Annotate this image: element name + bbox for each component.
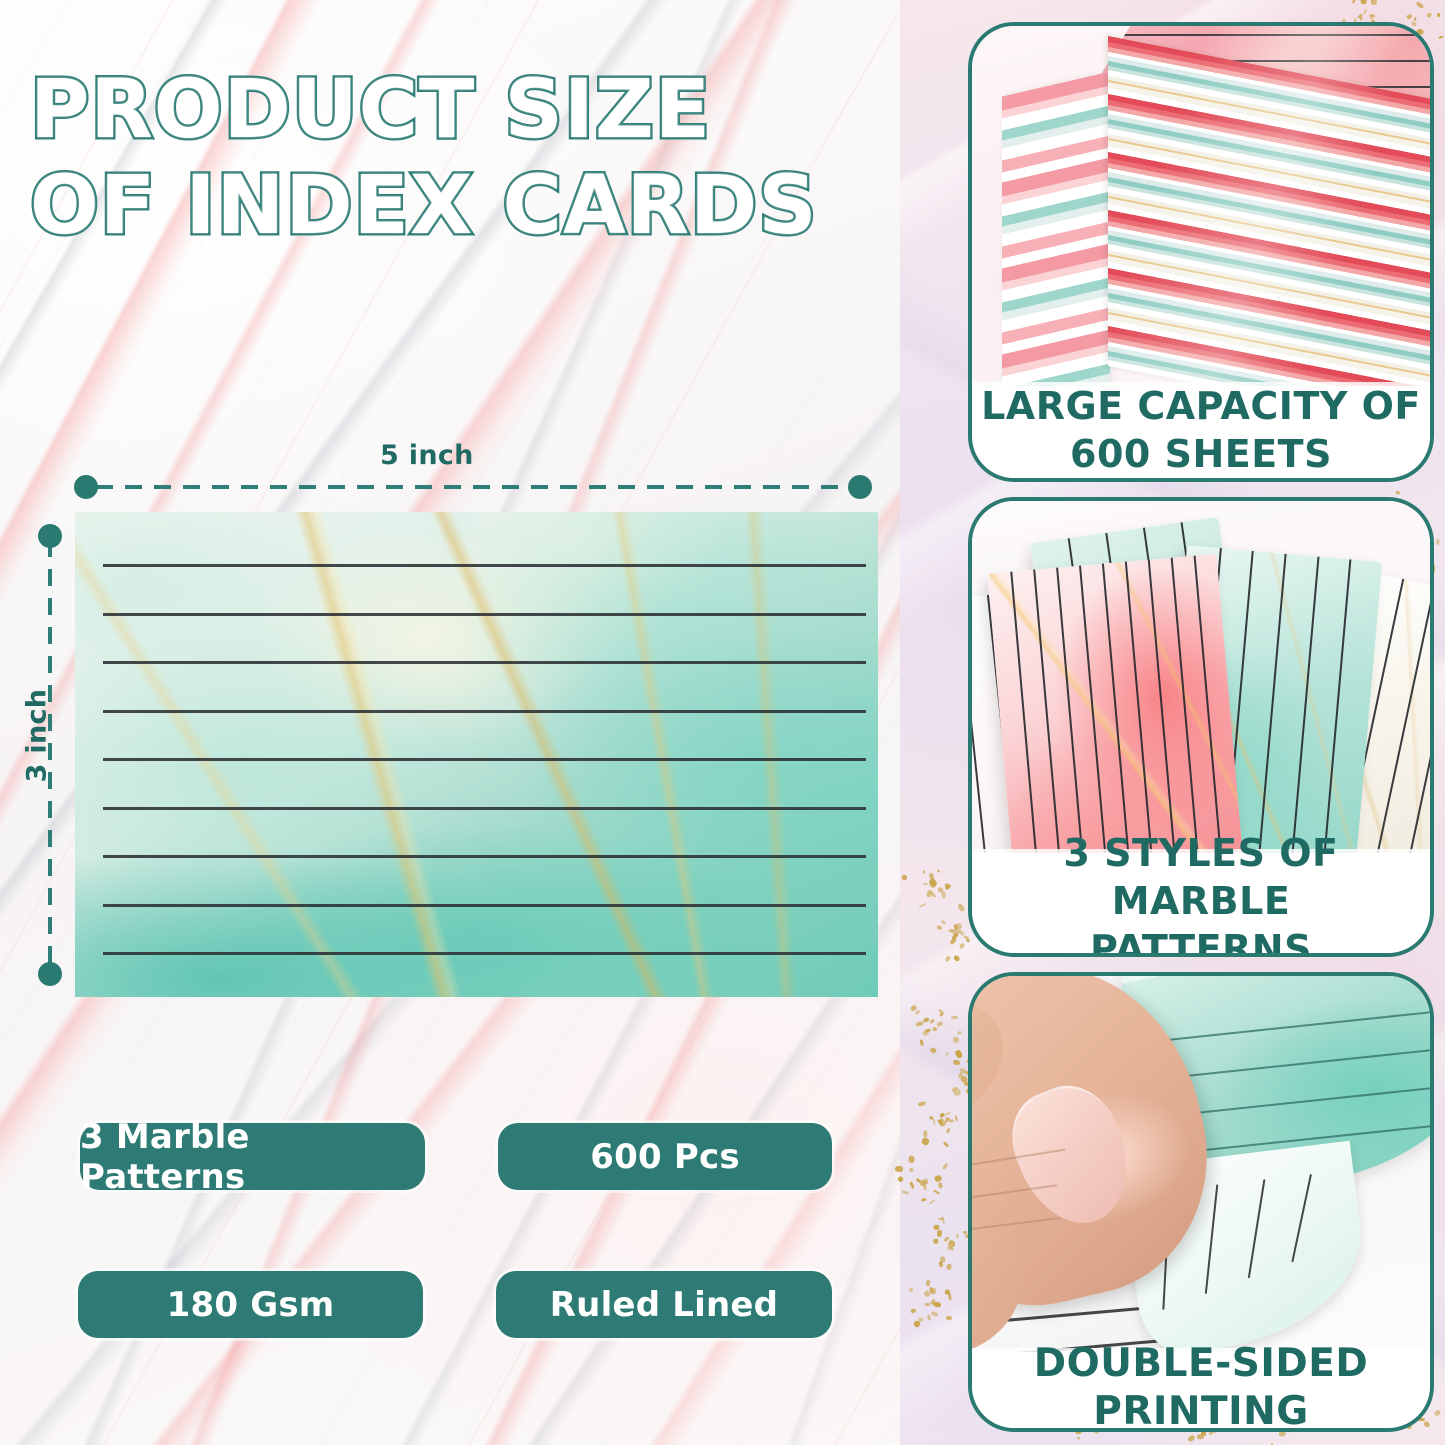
feature-badge-ruled-lined[interactable]: Ruled Lined	[496, 1271, 832, 1338]
card-back-rule-line	[1291, 1174, 1312, 1262]
hand-scene	[972, 976, 1430, 1352]
page-title-line-2: OF INDEX CARDS	[30, 158, 890, 254]
caption-line-1: 3 STYLES OF MARBLE	[972, 829, 1430, 925]
feature-panel-double-sided[interactable]: DOUBLE-SIDED PRINTING	[968, 972, 1434, 1432]
card-sample-pink	[987, 554, 1246, 853]
index-card-rule-line	[103, 710, 866, 713]
three-marble-cards-photo	[972, 501, 1430, 853]
caption-line-1: DOUBLE-SIDED PRINTING	[972, 1340, 1430, 1432]
stack-of-index-cards-photo	[972, 26, 1430, 386]
hand-lifting-card-photo	[972, 976, 1430, 1352]
panel-caption-large-capacity: LARGE CAPACITY OF 600 SHEETS	[972, 382, 1430, 478]
sample-card-rule-line	[1320, 559, 1351, 853]
feature-panel-large-capacity[interactable]: LARGE CAPACITY OF 600 SHEETS	[968, 22, 1434, 482]
sample-card-rule-line	[1255, 554, 1286, 853]
index-card-rule-line	[103, 807, 866, 810]
height-dimension-endpoint-bottom	[38, 962, 62, 986]
feature-badge-piece-count[interactable]: 600 Pcs	[498, 1123, 832, 1190]
width-dimension-label: 5 inch	[380, 440, 474, 471]
caption-line-2: PATTERNS	[1090, 925, 1312, 957]
page-title-line-1: PRODUCT SIZE	[30, 62, 890, 158]
height-dimension-endpoint-top	[38, 524, 62, 548]
index-card-rule-line	[103, 855, 866, 858]
stack-highlight	[972, 26, 1430, 386]
index-card-sample	[75, 512, 878, 997]
caption-line-1: LARGE CAPACITY OF	[981, 382, 1421, 430]
index-card-rule-line	[103, 758, 866, 761]
page-title: PRODUCT SIZE OF INDEX CARDS	[30, 62, 890, 254]
index-card-rule-line	[103, 613, 866, 616]
mint-card-rule-line	[1152, 1007, 1430, 1042]
mint-card-rule-line	[1152, 1045, 1430, 1080]
infographic-stage: PRODUCT SIZE OF INDEX CARDS 5 inch 3 inc…	[0, 0, 1445, 1445]
panel-caption-double-sided: DOUBLE-SIDED PRINTING	[972, 1348, 1430, 1428]
index-card-rule-line	[103, 661, 866, 664]
width-dimension-endpoint-left	[74, 475, 98, 499]
index-card-rule-line	[103, 904, 866, 907]
panel-caption-marble-styles: 3 STYLES OF MARBLE PATTERNS	[972, 849, 1430, 953]
index-card-ruled-lines	[75, 512, 878, 997]
fanned-cards-scene	[972, 501, 1430, 853]
width-dimension-line	[96, 485, 848, 489]
feature-badge-marble-patterns[interactable]: 3 Marble Patterns	[80, 1123, 425, 1190]
card-back-rule-line	[1248, 1179, 1266, 1278]
feature-panel-marble-styles[interactable]: 3 STYLES OF MARBLE PATTERNS	[968, 497, 1434, 957]
height-dimension-line	[48, 540, 52, 974]
card-back-rule-line	[1205, 1184, 1218, 1294]
index-card-rule-line	[103, 564, 866, 567]
index-card-rule-line	[103, 952, 866, 955]
feature-badge-paper-weight[interactable]: 180 Gsm	[78, 1271, 423, 1338]
width-dimension-endpoint-right	[848, 475, 872, 499]
caption-line-2: 600 SHEETS	[1070, 430, 1332, 478]
sample-card-rule-line	[1288, 556, 1319, 853]
stack-scene	[972, 26, 1430, 386]
